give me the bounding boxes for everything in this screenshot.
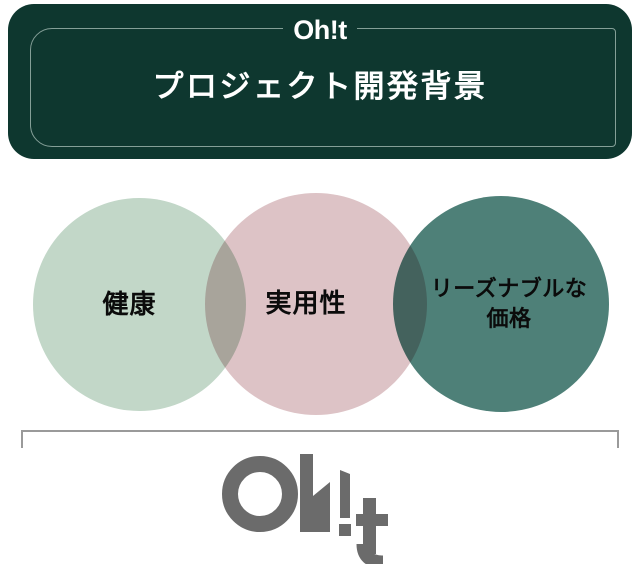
brand-logo-top: Oh!t	[283, 14, 356, 46]
venn-label-price-line2: 価格	[486, 306, 531, 331]
summary-bracket	[21, 430, 619, 448]
venn-label-health: 健康	[102, 287, 156, 322]
header-card: Oh!t プロジェクト開発背景	[8, 4, 632, 159]
header-content: Oh!t プロジェクト開発背景	[8, 4, 632, 159]
brand-wordmark-icon	[220, 452, 420, 564]
venn-label-price: リーズナブルな 価格	[431, 274, 587, 333]
venn-label-practicality: 実用性	[265, 286, 346, 321]
footer-logo	[0, 452, 640, 564]
venn-circle-price: リーズナブルな 価格	[393, 196, 609, 412]
page-title: プロジェクト開発背景	[153, 67, 488, 107]
venn-diagram: 健康 実用性 リーズナブルな 価格	[0, 186, 640, 418]
venn-label-price-line1: リーズナブルな	[431, 276, 587, 301]
